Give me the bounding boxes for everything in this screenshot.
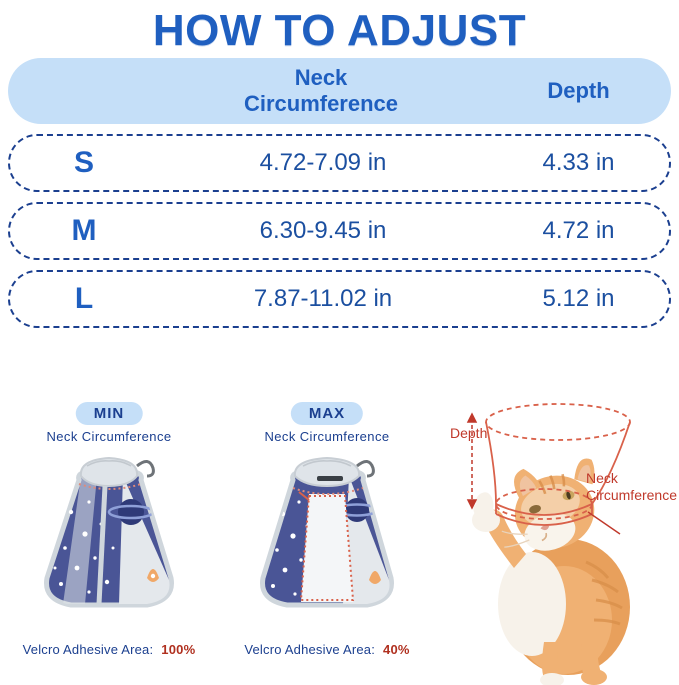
size-table: Neck Circumference Depth S 4.72-7.09 in … (0, 58, 679, 328)
velcro-value-min: 100% (161, 642, 195, 657)
table-row: M 6.30-9.45 in 4.72 in (8, 202, 671, 260)
table-header-row: Neck Circumference Depth (8, 58, 671, 124)
cell-depth: 5.12 in (488, 285, 669, 313)
header-neck-line2: Circumference (156, 91, 486, 117)
cell-neck: 6.30-9.45 in (158, 217, 488, 245)
annotation-neck-line2: Circumference (586, 487, 677, 504)
header-cell-neck: Neck Circumference (156, 65, 486, 117)
panel-min: MIN Neck Circumference (0, 392, 218, 685)
cell-neck: 7.87-11.02 in (158, 285, 488, 313)
cell-neck: 4.72-7.09 in (158, 149, 488, 177)
annotation-neck-line1: Neck (586, 470, 677, 487)
cell-size: M (10, 214, 158, 248)
velcro-area-min: Velcro Adhesive Area:100% (0, 642, 218, 657)
annotation-depth: Depth (450, 425, 487, 441)
header-neck-line1: Neck (156, 65, 486, 91)
velcro-value-max: 40% (383, 642, 410, 657)
cone-photo-min (19, 450, 199, 615)
velcro-label-min: Velcro Adhesive Area: (23, 642, 154, 657)
table-row: L 7.87-11.02 in 5.12 in (8, 270, 671, 328)
header-cell-depth: Depth (486, 78, 671, 104)
panel-cat-diagram: Depth Neck Circumference (436, 392, 679, 685)
badge-max: MAX (291, 402, 363, 425)
cell-depth: 4.33 in (488, 149, 669, 177)
min-sub-label: Neck Circumference (0, 429, 218, 444)
annotation-neck-circumference: Neck Circumference (586, 470, 677, 504)
table-row: S 4.72-7.09 in 4.33 in (8, 134, 671, 192)
badge-min: MIN (76, 402, 143, 425)
cell-depth: 4.72 in (488, 217, 669, 245)
adjustment-illustrations: MIN Neck Circumference (0, 392, 679, 685)
max-sub-label: Neck Circumference (218, 429, 436, 444)
cell-size: S (10, 146, 158, 180)
page-title: HOW TO ADJUST (0, 0, 679, 58)
panel-max: MAX Neck Circumference (218, 392, 436, 685)
cone-photo-max (237, 450, 417, 615)
velcro-area-max: Velcro Adhesive Area:40% (218, 642, 436, 657)
cell-size: L (10, 282, 158, 316)
velcro-label-max: Velcro Adhesive Area: (244, 642, 375, 657)
